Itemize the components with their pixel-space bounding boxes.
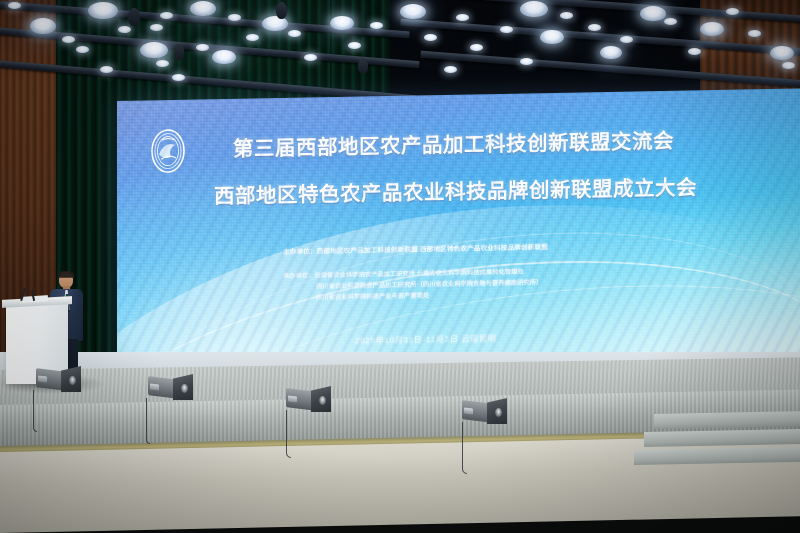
stage-light-icon — [588, 24, 601, 31]
stage-light-icon — [444, 66, 457, 73]
stage-light-icon — [228, 14, 241, 21]
stage-light-icon — [664, 18, 677, 25]
stage-light-icon — [688, 48, 701, 55]
stage-light-fixture-off-icon — [128, 8, 140, 26]
stage-light-icon — [348, 42, 361, 49]
stage-light-icon — [424, 34, 437, 41]
stage-spotlight-icon — [540, 30, 564, 44]
stage-light-icon — [288, 30, 301, 37]
stage-light-icon — [726, 8, 739, 15]
led-moire-diagonal — [117, 88, 800, 372]
stage-light-icon — [196, 44, 209, 51]
stage-light-icon — [160, 12, 173, 19]
stage-light-icon — [470, 44, 483, 51]
stage-light-icon — [150, 24, 163, 31]
stage-spotlight-icon — [700, 22, 724, 36]
stage-light-icon — [748, 30, 761, 37]
stage-monitor-speaker — [286, 386, 330, 412]
stage-spotlight-icon — [88, 2, 118, 19]
speaker-cable — [146, 398, 150, 444]
stage-spotlight-icon — [330, 16, 354, 30]
stage-light-icon — [520, 58, 533, 65]
speaker-cable — [286, 410, 291, 458]
stage-spotlight-icon — [190, 1, 216, 16]
speaker-cable — [33, 390, 37, 432]
stage-spotlight-icon — [640, 6, 666, 21]
stage-monitor-speaker — [36, 366, 80, 392]
stage-spotlight-icon — [770, 46, 794, 60]
stage-light-icon — [62, 36, 75, 43]
stage-light-fixture-off-icon — [174, 44, 184, 60]
stage-spotlight-icon — [212, 50, 236, 64]
conference-stage-scene: 第三届西部地区农产品加工科技创新联盟交流会 西部地区特色农产品农业科技品牌创新联… — [0, 0, 800, 533]
stage-light-icon — [370, 22, 383, 29]
stage-light-icon — [8, 2, 21, 9]
stage-light-icon — [172, 74, 185, 81]
stage-steps — [630, 398, 800, 468]
stage-light-icon — [500, 26, 513, 33]
stage-light-fixture-off-icon — [276, 2, 287, 19]
stage-monitor-speaker — [148, 374, 192, 400]
stage-spotlight-icon — [30, 18, 56, 34]
stage-light-icon — [560, 12, 573, 19]
stage-monitor-speaker — [462, 398, 506, 424]
speaker-cable — [462, 422, 467, 474]
stage-light-icon — [156, 60, 169, 67]
led-backdrop-screen: 第三届西部地区农产品加工科技创新联盟交流会 西部地区特色农产品农业科技品牌创新联… — [117, 88, 800, 372]
stage-spotlight-icon — [140, 42, 168, 58]
stage-light-icon — [76, 46, 89, 53]
stage-spotlight-icon — [400, 4, 426, 19]
stage-light-icon — [782, 62, 795, 69]
stage-light-icon — [118, 26, 131, 33]
stage-light-icon — [456, 14, 469, 21]
stage-light-icon — [304, 54, 317, 61]
stage-light-icon — [100, 66, 113, 73]
stage-light-fixture-off-icon — [358, 58, 368, 74]
stage-light-icon — [246, 34, 259, 41]
stage-spotlight-icon — [600, 46, 622, 59]
stage-spotlight-icon — [520, 1, 548, 17]
stage-light-icon — [620, 36, 633, 43]
